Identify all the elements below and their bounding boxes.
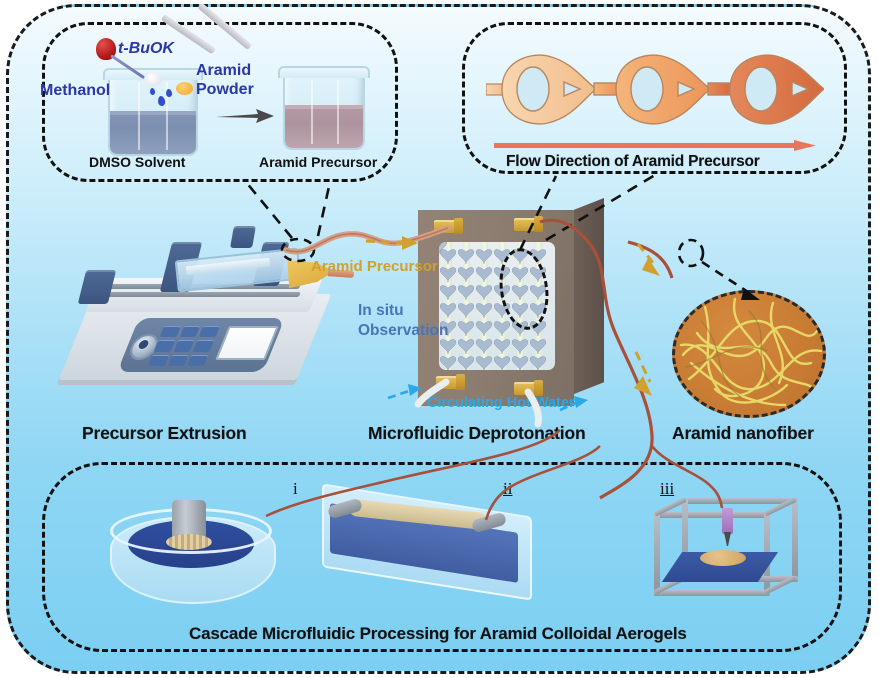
aramid-powder-icon [176, 82, 193, 95]
dmso-liquid [110, 111, 196, 154]
mixer-unit-3 [730, 55, 824, 124]
stage-label-precursor-extrusion: Precursor Extrusion [82, 423, 246, 444]
step-numeral-i: i [293, 479, 298, 499]
figure-root: Methanol t-BuOK Aramid Powder DMSO Solve… [0, 0, 879, 678]
step-iii-3d-printer [648, 494, 804, 614]
caption-flow-direction: Flow Direction of Aramid Precursor [506, 153, 760, 171]
chip-port-nut [456, 374, 465, 390]
precursor-liquid [285, 105, 363, 148]
beaker-rim [278, 66, 370, 78]
label-circulating-hot-water: Circulating Hot Water [427, 395, 575, 411]
nanofiber-strands [675, 293, 823, 415]
step-ii-trough-drawing [322, 500, 528, 592]
beaker-aramid-precursor [283, 66, 361, 148]
step-numeral-ii: ii [503, 479, 512, 499]
label-aramid-precursor-flow: Aramid Precursor [311, 258, 438, 275]
stage-label-aramid-nanofiber: Aramid nanofiber [672, 423, 814, 444]
label-in-situ-line1: In situ [358, 302, 404, 320]
label-tbuok: t-BuOK [118, 40, 174, 58]
label-aramid-powder-line1: Aramid [196, 62, 251, 80]
printer-nozzle-barrel [722, 508, 733, 534]
label-methanol: Methanol [40, 82, 110, 100]
aramid-nanofiber-disc [672, 290, 826, 418]
spinner-cylinder [172, 500, 206, 548]
printer-nozzle-tip [724, 532, 731, 546]
label-in-situ-line2: Observation [358, 322, 448, 340]
chip-port-nut [534, 216, 543, 232]
printed-aerogel-disc [700, 550, 746, 566]
pump-block-top [230, 226, 256, 248]
tbuok-powder-icon [145, 73, 162, 86]
caption-aramid-precursor: Aramid Precursor [259, 154, 377, 170]
chip-port-nut [454, 218, 463, 234]
mixer-unit-1 [502, 55, 596, 124]
caption-cascade-processing: Cascade Microfluidic Processing for Aram… [189, 624, 687, 644]
caption-dmso-solvent: DMSO Solvent [89, 154, 185, 170]
chip-port-nut [534, 380, 543, 396]
mixer-unit-chain [486, 44, 824, 136]
stage-label-microfluidic-deprotonation: Microfluidic Deprotonation [368, 423, 585, 444]
label-aramid-powder-line2: Powder [196, 81, 254, 99]
mixer-unit-2 [616, 55, 710, 124]
flow-direction-arrow-icon [494, 140, 816, 151]
reaction-arrow-icon [216, 108, 274, 124]
step-numeral-iii: iii [660, 479, 674, 499]
syringe-pump [70, 226, 332, 406]
